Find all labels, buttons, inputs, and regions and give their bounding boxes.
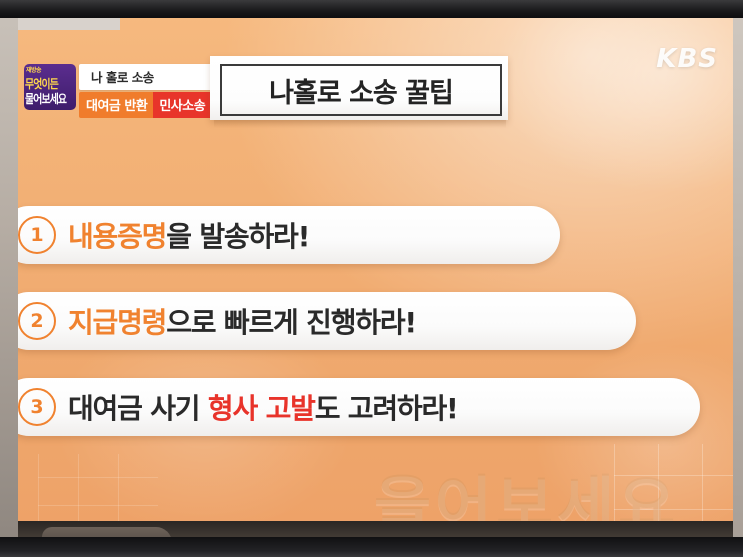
- tip-segment-plain-2: 도 고려하라!: [315, 392, 458, 425]
- topic-tag-orange: 대여금 반환: [79, 92, 153, 118]
- tip-segment-highlight: 내용증명: [68, 220, 166, 253]
- screen-glare-top-right: [494, 14, 736, 194]
- wall-left: [0, 0, 18, 557]
- program-badge-line2: 물어보세요: [25, 90, 66, 107]
- background-grid-left: [38, 454, 158, 528]
- tv-bezel-top: [0, 0, 743, 18]
- tip-segment-plain: 을 발송하라!: [166, 220, 309, 253]
- program-badge: 재방송 무엇이든 물어보세요: [24, 64, 76, 110]
- tip-row: 3 대여금 사기 형사 고발도 고려하라!: [14, 378, 736, 436]
- tv-bezel-bottom: [0, 537, 743, 557]
- background-watermark-large: 을어보세요: [374, 454, 679, 528]
- tip-number-badge: 2: [18, 302, 56, 340]
- broadcaster-logo: KBS: [656, 44, 718, 74]
- tip-text: 지급명령으로 빠르게 진행하라!: [68, 301, 416, 341]
- tip-text: 대여금 사기 형사 고발도 고려하라!: [68, 387, 458, 427]
- tip-row: 1 내용증명을 발송하라!: [14, 206, 736, 264]
- tv-photo-screenshot: 무엇이든 을어보세요 KBS 재방송 무엇이든 물어보세요 나 홀로 소송 대여…: [0, 0, 743, 557]
- program-badge-cluster: 재방송 무엇이든 물어보세요 나 홀로 소송 대여금 반환 민사소송: [24, 64, 213, 118]
- tip-segment-plain: 으로 빠르게 진행하라!: [166, 306, 416, 339]
- topic-tag-red: 민사소송: [153, 92, 213, 118]
- tip-text: 내용증명을 발송하라!: [68, 215, 309, 255]
- tip-number-badge: 1: [18, 216, 56, 254]
- tip-segment-highlight: 지급명령: [68, 306, 166, 339]
- program-badge-top-label: 재방송: [26, 65, 41, 74]
- topic-tag-row: 대여금 반환 민사소송: [79, 92, 213, 118]
- tip-row: 2 지급명령으로 빠르게 진행하라!: [14, 292, 736, 350]
- headline-frame: 나홀로 소송 꿀팁: [220, 64, 502, 116]
- topic-tags: 나 홀로 소송 대여금 반환 민사소송: [79, 64, 213, 118]
- tips-list: 1 내용증명을 발송하라! 2 지급명령으로 빠르게 진행하라! 3 대여금 사…: [14, 206, 736, 464]
- tip-segment-plain: 대여금 사기: [68, 392, 208, 425]
- tv-picture-area: 무엇이든 을어보세요 KBS 재방송 무엇이든 물어보세요 나 홀로 소송 대여…: [14, 14, 736, 528]
- tip-segment-highlight: 형사 고발: [208, 392, 315, 425]
- headline-plate: 나홀로 소송 꿀팁: [210, 56, 508, 120]
- tip-number-badge: 3: [18, 388, 56, 426]
- wall-right: [733, 0, 743, 557]
- headline-title: 나홀로 소송 꿀팁: [269, 71, 453, 110]
- topic-tag-white: 나 홀로 소송: [79, 64, 213, 90]
